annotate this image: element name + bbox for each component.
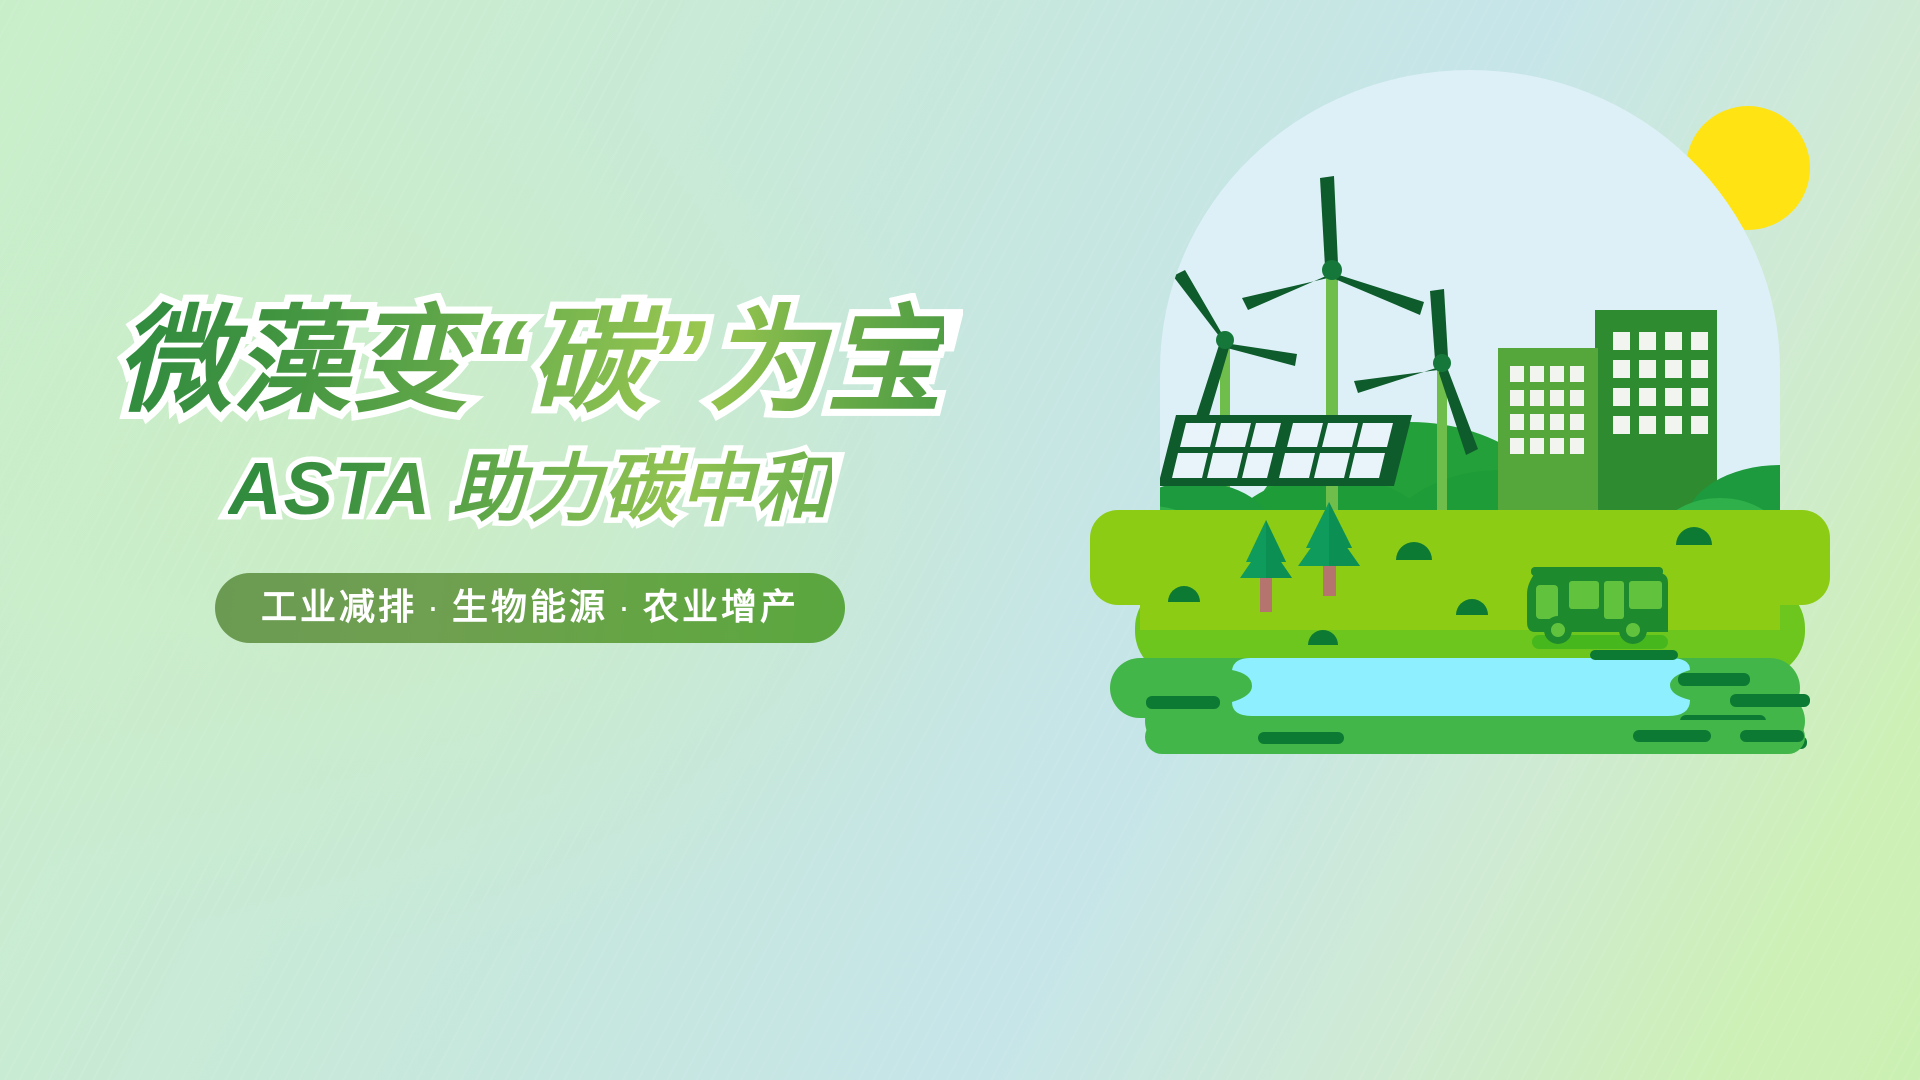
bus-icon	[1527, 567, 1668, 649]
text-block: 微藻变“碳”为宝 微藻变“碳”为宝 ASTA 助力碳中和 ASTA 助力碳中和 …	[0, 300, 1060, 643]
subline-wrap: ASTA 助力碳中和 ASTA 助力碳中和	[228, 433, 832, 529]
eco-illustration	[1080, 70, 1860, 790]
pill-item-1: 工业减排	[261, 586, 417, 627]
page-subtitle: ASTA 助力碳中和	[228, 449, 832, 529]
water-pond	[1232, 658, 1690, 716]
pill-separator-2: ·	[608, 586, 643, 627]
eco-banner: 微藻变“碳”为宝 微藻变“碳”为宝 ASTA 助力碳中和 ASTA 助力碳中和 …	[0, 0, 1920, 1080]
pill-item-2: 生物能源	[452, 586, 608, 627]
pill-separator-1: ·	[417, 586, 452, 627]
pill-item-3: 农业增产	[643, 586, 799, 627]
pond-area	[1110, 650, 1810, 754]
feature-pill[interactable]: 工业减排·生物能源·农业增产	[215, 573, 845, 643]
page-title: 微藻变“碳”为宝	[116, 300, 944, 423]
headline-wrap: 微藻变“碳”为宝 微藻变“碳”为宝	[116, 300, 944, 423]
ground-layers	[1090, 510, 1830, 677]
